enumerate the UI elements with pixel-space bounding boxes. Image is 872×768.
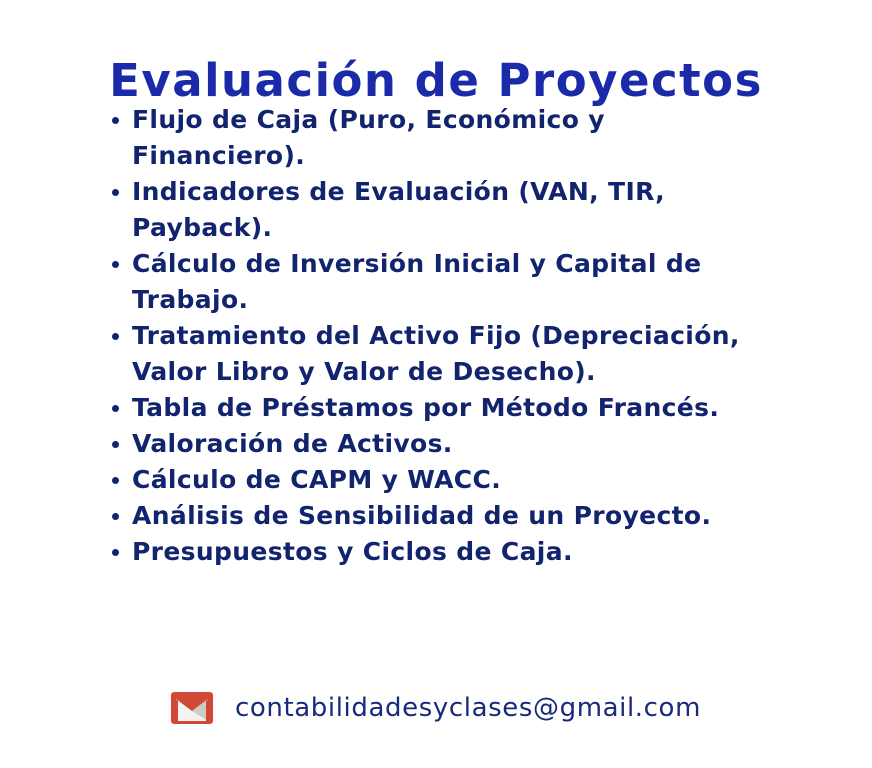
bullet-dot-icon [112, 513, 119, 520]
list-item: Análisis de Sensibilidad de un Proyecto. [108, 498, 808, 534]
bullet-dot-icon [112, 333, 119, 340]
list-item-label: Flujo de Caja (Puro, Económico y Financi… [132, 102, 637, 174]
bullet-dot-icon [112, 549, 119, 556]
bullet-dot-icon [112, 117, 119, 124]
bullet-dot-icon [112, 477, 119, 484]
list-item: Cálculo de CAPM y WACC. [108, 462, 808, 498]
list-item: Presupuestos y Ciclos de Caja. [108, 534, 808, 570]
contact-email[interactable]: contabilidadesyclases@gmail.com [235, 692, 701, 724]
bullet-dot-icon [112, 261, 119, 268]
topics-list: Flujo de Caja (Puro, Económico y Financi… [108, 102, 808, 570]
list-item-label: Análisis de Sensibilidad de un Proyecto. [132, 498, 792, 534]
list-item-label: Valoración de Activos. [132, 426, 792, 462]
list-item: Indicadores de Evaluación (VAN, TIR, Pay… [108, 174, 808, 246]
list-item: Valoración de Activos. [108, 426, 808, 462]
list-item-label: Cálculo de CAPM y WACC. [132, 462, 792, 498]
list-item: Cálculo de Inversión Inicial y Capital d… [108, 246, 808, 318]
page-title: Evaluación de Proyectos [109, 58, 763, 103]
list-item: Tabla de Préstamos por Método Francés. [108, 390, 808, 426]
contact-footer: contabilidadesyclases@gmail.com [0, 692, 872, 724]
list-item-label: Tabla de Préstamos por Método Francés. [132, 390, 792, 426]
list-item: Flujo de Caja (Puro, Económico y Financi… [108, 102, 808, 174]
list-item: Tratamiento del Activo Fijo (Depreciació… [108, 318, 808, 390]
list-item-label: Presupuestos y Ciclos de Caja. [132, 534, 792, 570]
gmail-icon [171, 692, 213, 724]
bullet-dot-icon [112, 405, 119, 412]
list-item-label: Cálculo de Inversión Inicial y Capital d… [132, 246, 722, 318]
bullet-dot-icon [112, 189, 119, 196]
slide-canvas: Evaluación de Proyectos Flujo de Caja (P… [0, 0, 872, 768]
list-item-label: Indicadores de Evaluación (VAN, TIR, Pay… [132, 174, 697, 246]
list-item-label: Tratamiento del Activo Fijo (Depreciació… [132, 318, 757, 390]
bullet-dot-icon [112, 441, 119, 448]
